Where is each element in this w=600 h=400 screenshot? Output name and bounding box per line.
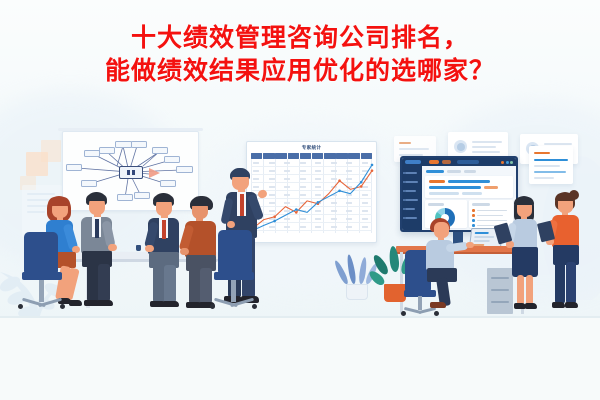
woman-orange-top [543,192,589,318]
chair-caster [60,304,65,309]
sidebar-item[interactable] [405,208,415,210]
illustration-banner: 专家统计 [0,0,600,400]
dashboard-tab[interactable] [442,160,451,164]
breadcrumb [464,170,476,173]
card-line [534,165,560,167]
leg [164,265,176,303]
progress-bar [448,180,490,183]
window-dot-blue[interactable] [506,161,509,164]
tie [95,219,99,238]
laptop-line [474,236,494,238]
mindmap-node [131,141,147,148]
chart-line-blue-series [253,165,372,231]
leg [200,268,212,304]
mindmap-node [84,150,100,157]
leg [98,264,110,302]
skirt [512,247,538,277]
progress-bar [484,186,498,189]
chart-point [295,211,298,214]
card-accent-line [534,152,550,154]
shoe [97,300,113,306]
breadcrumb [426,170,444,173]
page-title: 十大绩效管理咨询公司排名， 能做绩效结果应用优化的选哪家？ [0,22,600,88]
presenter-hair-front [230,170,250,177]
chart-point [360,181,363,184]
window-controls[interactable] [501,161,513,164]
hand [466,242,474,248]
chart-point [295,208,298,211]
report-card [529,146,573,184]
woman-blue-blouse [504,196,548,318]
plant-pot [346,284,368,300]
card-title [472,203,490,206]
card-accent-line [399,142,411,144]
window-dot-orange[interactable] [501,161,504,164]
plant-pot [384,284,406,302]
chart-line-orange-series [253,171,372,229]
chair-pole [231,280,236,302]
hair-front [190,198,213,206]
sidebar-item[interactable] [405,217,417,219]
mindmap-node [160,180,176,187]
shoe-heel [525,303,537,309]
legend-dot [472,209,475,212]
dashboard-sidebar [402,166,422,230]
presenter-hand-right [257,189,268,199]
man-grey-suit [73,192,123,314]
sidebar-item[interactable] [405,181,418,183]
hair-front [86,194,107,201]
dashboard-logo [405,160,421,164]
doc-line [27,193,55,195]
card-line [472,141,502,143]
chair-back [24,232,58,274]
mindmap-highlight-arrow [149,168,160,178]
chart-point [371,164,374,167]
legend-label [477,220,507,222]
chair-pole [418,296,422,310]
card-line [399,148,429,150]
mindmap-node [164,156,180,163]
chart-point [338,179,341,182]
board-rail [58,128,203,131]
laptop-line [474,240,490,242]
card-line [534,171,566,173]
card-line [544,143,572,145]
tie [162,220,166,239]
hair-front [514,197,534,205]
laptop-line [475,232,489,234]
sidebar-item[interactable] [405,190,416,192]
chart-point [371,169,374,172]
mindmap-node [176,166,193,173]
progress-bar [462,192,482,195]
blouse [512,219,537,249]
mindmap-node [66,164,82,171]
breadcrumb [447,170,461,173]
card-line [472,146,496,148]
chart-point [360,185,363,188]
progress-bar [429,186,481,189]
card-line [534,159,568,161]
chair-seat [22,272,62,280]
shoe-heel [565,302,578,308]
leg [566,262,576,304]
card-line [472,151,500,153]
chair-caster [18,304,23,309]
legend-label [477,210,507,212]
arm [446,242,469,253]
dashboard-tab-active[interactable] [429,160,439,164]
dashboard-topbar [402,158,516,166]
floor [0,318,600,400]
mindmap-center-node [119,166,143,179]
progress-bar [429,192,459,195]
sticky-note-2 [41,140,61,162]
title-line-2: 能做绩效结果应用优化的选哪家？ [0,55,600,88]
chart-point [338,190,341,193]
chair-back [218,230,252,274]
title-line-1: 十大绩效管理咨询公司排名， [131,24,469,52]
progress-card [425,176,513,198]
presenter-hand-left [227,221,235,228]
chair-seat [214,272,254,280]
mindmap-node [115,141,132,148]
mindmap-node [81,180,97,187]
sidebar-item[interactable] [405,172,417,174]
leg [526,275,533,305]
mindmap-node [99,147,115,154]
chart-point [273,220,276,223]
hand [180,248,189,255]
leg [517,275,524,305]
chart-point [317,201,320,204]
presenter-tie [240,194,244,216]
card-title [428,203,444,206]
chair-pole [39,280,44,302]
shoe [430,302,446,308]
hair-front [48,197,70,206]
legend-label [477,215,503,217]
dashboard-search-field[interactable] [457,160,479,164]
chair-caster [210,304,215,309]
progress-bar [429,180,445,183]
window-dot-green[interactable] [510,161,513,164]
card-line [534,177,554,179]
avatar-icon [454,140,467,153]
chair-caster [252,304,257,309]
hair-front [153,195,174,202]
hand [108,244,117,251]
shoe-heel [552,302,565,308]
mindmap-node [152,147,168,154]
hand [145,245,154,252]
seated-analyst [424,218,476,318]
sidebar-item[interactable] [405,199,418,201]
chart-point [273,215,276,218]
leg [555,262,565,304]
hair-front [555,193,575,201]
legend-dot [472,214,475,217]
